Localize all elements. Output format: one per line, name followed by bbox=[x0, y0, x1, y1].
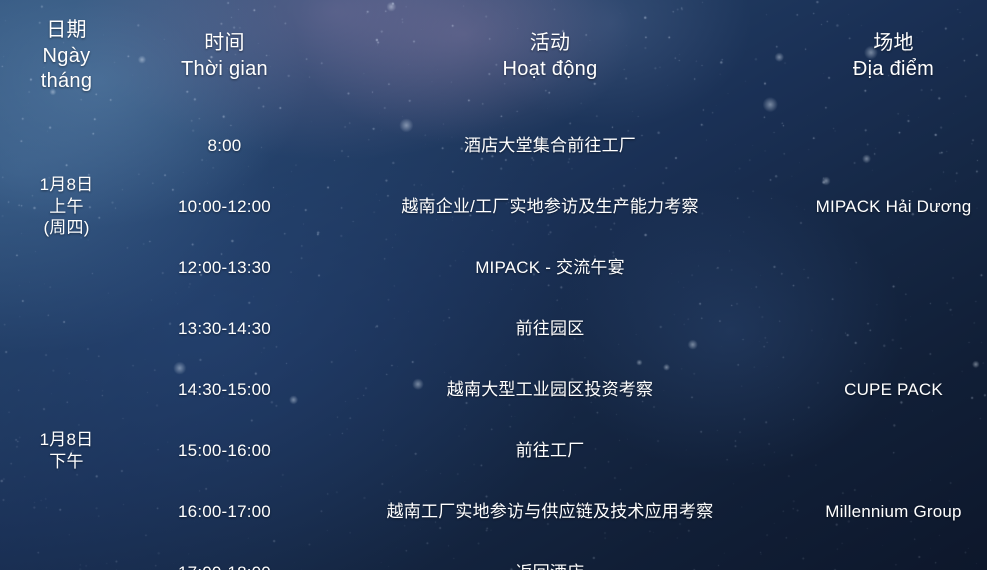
date-line: 下午 bbox=[40, 451, 94, 473]
date-line: (周四) bbox=[40, 217, 94, 239]
table-row-venue: MIPACK Hải Dương bbox=[788, 178, 987, 235]
table-row-venue: CUPE PACK bbox=[788, 361, 987, 418]
table-row-time: 8:00 bbox=[137, 117, 312, 174]
column-header-date-vi-1: Ngày bbox=[41, 44, 93, 70]
table-row-time: 10:00-12:00 bbox=[137, 178, 312, 235]
column-header-venue: 场地 Địa điểm bbox=[788, 0, 987, 113]
table-row-time: 13:30-14:30 bbox=[137, 300, 312, 357]
table-row-venue bbox=[788, 117, 987, 174]
column-header-venue-zh: 场地 bbox=[853, 31, 934, 57]
table-row-activity: 返回酒店 bbox=[316, 544, 784, 570]
table-row-time: 16:00-17:00 bbox=[137, 483, 312, 540]
date-line: 1月8日 bbox=[40, 174, 94, 196]
table-row-venue bbox=[788, 544, 987, 570]
table-row-venue: Millennium Group bbox=[788, 483, 987, 540]
column-header-time-vi: Thời gian bbox=[181, 57, 268, 83]
table-row-activity: MIPACK - 交流午宴 bbox=[316, 239, 784, 296]
column-header-date: 日期 Ngày tháng bbox=[0, 0, 133, 113]
column-header-activity-zh: 活动 bbox=[503, 31, 598, 57]
table-row-venue bbox=[788, 239, 987, 296]
table-row-venue bbox=[788, 422, 987, 479]
date-line: 上午 bbox=[40, 196, 94, 218]
column-header-date-zh: 日期 bbox=[41, 18, 93, 44]
table-row-time: 12:00-13:30 bbox=[137, 239, 312, 296]
table-row-activity: 越南大型工业园区投资考察 bbox=[316, 361, 784, 418]
date-line: 1月8日 bbox=[40, 429, 94, 451]
table-row-activity: 越南企业/工厂实地参访及生产能力考察 bbox=[316, 178, 784, 235]
column-header-time: 时间 Thời gian bbox=[137, 0, 312, 113]
date-group-afternoon: 1月8日 下午 bbox=[0, 300, 133, 570]
column-header-date-vi-2: tháng bbox=[41, 69, 93, 95]
table-row-activity: 前往工厂 bbox=[316, 422, 784, 479]
date-group-morning: 1月8日 上午 (周四) bbox=[0, 117, 133, 296]
schedule-table: 日期 Ngày tháng 时间 Thời gian 活动 Hoạt động … bbox=[0, 0, 987, 570]
table-row-venue bbox=[788, 300, 987, 357]
column-header-time-zh: 时间 bbox=[181, 31, 268, 57]
table-row-activity: 前往园区 bbox=[316, 300, 784, 357]
table-row-time: 14:30-15:00 bbox=[137, 361, 312, 418]
column-header-venue-vi: Địa điểm bbox=[853, 57, 934, 83]
column-header-activity-vi: Hoạt động bbox=[503, 57, 598, 83]
column-header-activity: 活动 Hoạt động bbox=[316, 0, 784, 113]
table-row-time: 17:00-18:00 bbox=[137, 544, 312, 570]
table-row-time: 15:00-16:00 bbox=[137, 422, 312, 479]
table-row-activity: 酒店大堂集合前往工厂 bbox=[316, 117, 784, 174]
table-row-activity: 越南工厂实地参访与供应链及技术应用考察 bbox=[316, 483, 784, 540]
